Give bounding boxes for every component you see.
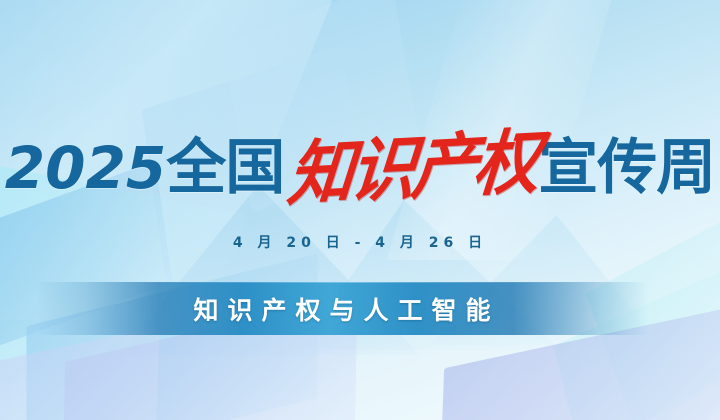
banner-headline: 2025 全国 知识产权 宣传周 xyxy=(0,126,720,210)
headline-scope: 全国 xyxy=(166,138,284,198)
headline-year: 2025 xyxy=(5,139,166,197)
ip-week-banner: 2025 全国 知识产权 宣传周 4 月 20 日 - 4 月 26 日 知识产… xyxy=(0,0,720,420)
event-dateline: 4 月 20 日 - 4 月 26 日 xyxy=(0,232,720,252)
translucent-panel-shape xyxy=(554,256,720,420)
subtitle-theme-text: 知识产权与人工智能 xyxy=(184,291,499,327)
headline-emphasis-calligraphy: 知识产权 xyxy=(285,126,539,209)
translucent-panel-shape xyxy=(26,254,317,420)
translucent-panel-shape xyxy=(0,326,160,420)
subtitle-band: 知识产权与人工智能 xyxy=(36,282,648,335)
headline-suffix: 宣传周 xyxy=(538,138,715,198)
